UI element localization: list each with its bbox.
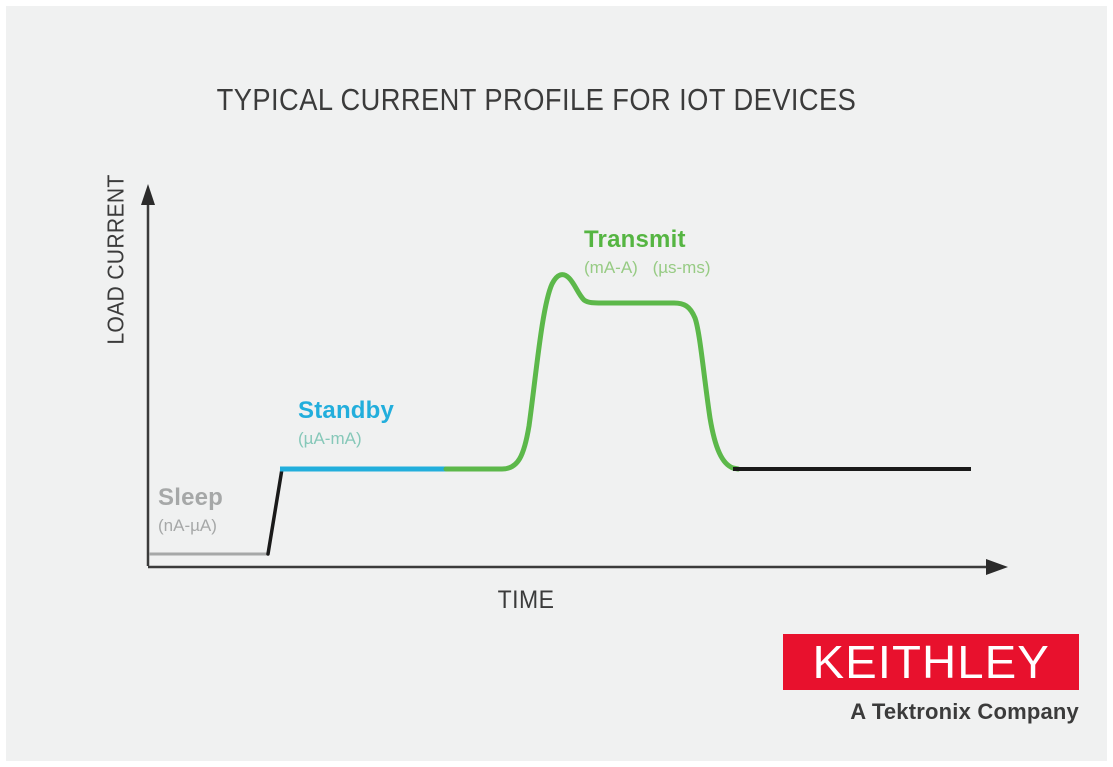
- annotation-standby-range: (µA-mA): [298, 429, 362, 448]
- keithley-logo-box: KEITHLEY: [783, 634, 1079, 690]
- trace-wake-edge: [268, 469, 282, 554]
- screenshot-root: TYPICAL CURRENT PROFILE FOR IOT DEVICES …: [0, 0, 1113, 767]
- x-axis-arrowhead: [986, 559, 1008, 575]
- keithley-tagline: A Tektronix Company: [783, 699, 1079, 725]
- annotation-transmit-label: Transmit: [584, 228, 721, 252]
- annotation-standby-sublabels: (µA-mA): [298, 430, 394, 447]
- keithley-wordmark: KEITHLEY: [812, 639, 1049, 685]
- annotation-transmit-range: (mA-A): [584, 258, 638, 277]
- annotation-sleep-sublabels: (nA-µA): [158, 517, 227, 534]
- annotation-standby-label: Standby: [298, 399, 394, 423]
- y-axis-arrowhead: [141, 184, 155, 205]
- annotation-sleep-label: Sleep: [158, 486, 227, 510]
- annotation-transmit-sublabels: (mA-A) (µs-ms): [584, 259, 721, 276]
- y-axis-label: LOAD CURRENT: [103, 149, 130, 370]
- annotation-transmit-duration: (µs-ms): [653, 258, 711, 277]
- annotation-sleep-range: (nA-µA): [158, 516, 217, 535]
- annotation-standby: Standby (µA-mA): [298, 399, 394, 447]
- annotation-sleep: Sleep (nA-µA): [158, 486, 227, 534]
- keithley-logo: KEITHLEY A Tektronix Company: [783, 634, 1079, 725]
- annotation-transmit: Transmit (mA-A) (µs-ms): [584, 228, 721, 276]
- trace-transmit: [446, 275, 738, 469]
- x-axis-label: TIME: [416, 586, 637, 615]
- chart-canvas: TYPICAL CURRENT PROFILE FOR IOT DEVICES …: [6, 6, 1107, 761]
